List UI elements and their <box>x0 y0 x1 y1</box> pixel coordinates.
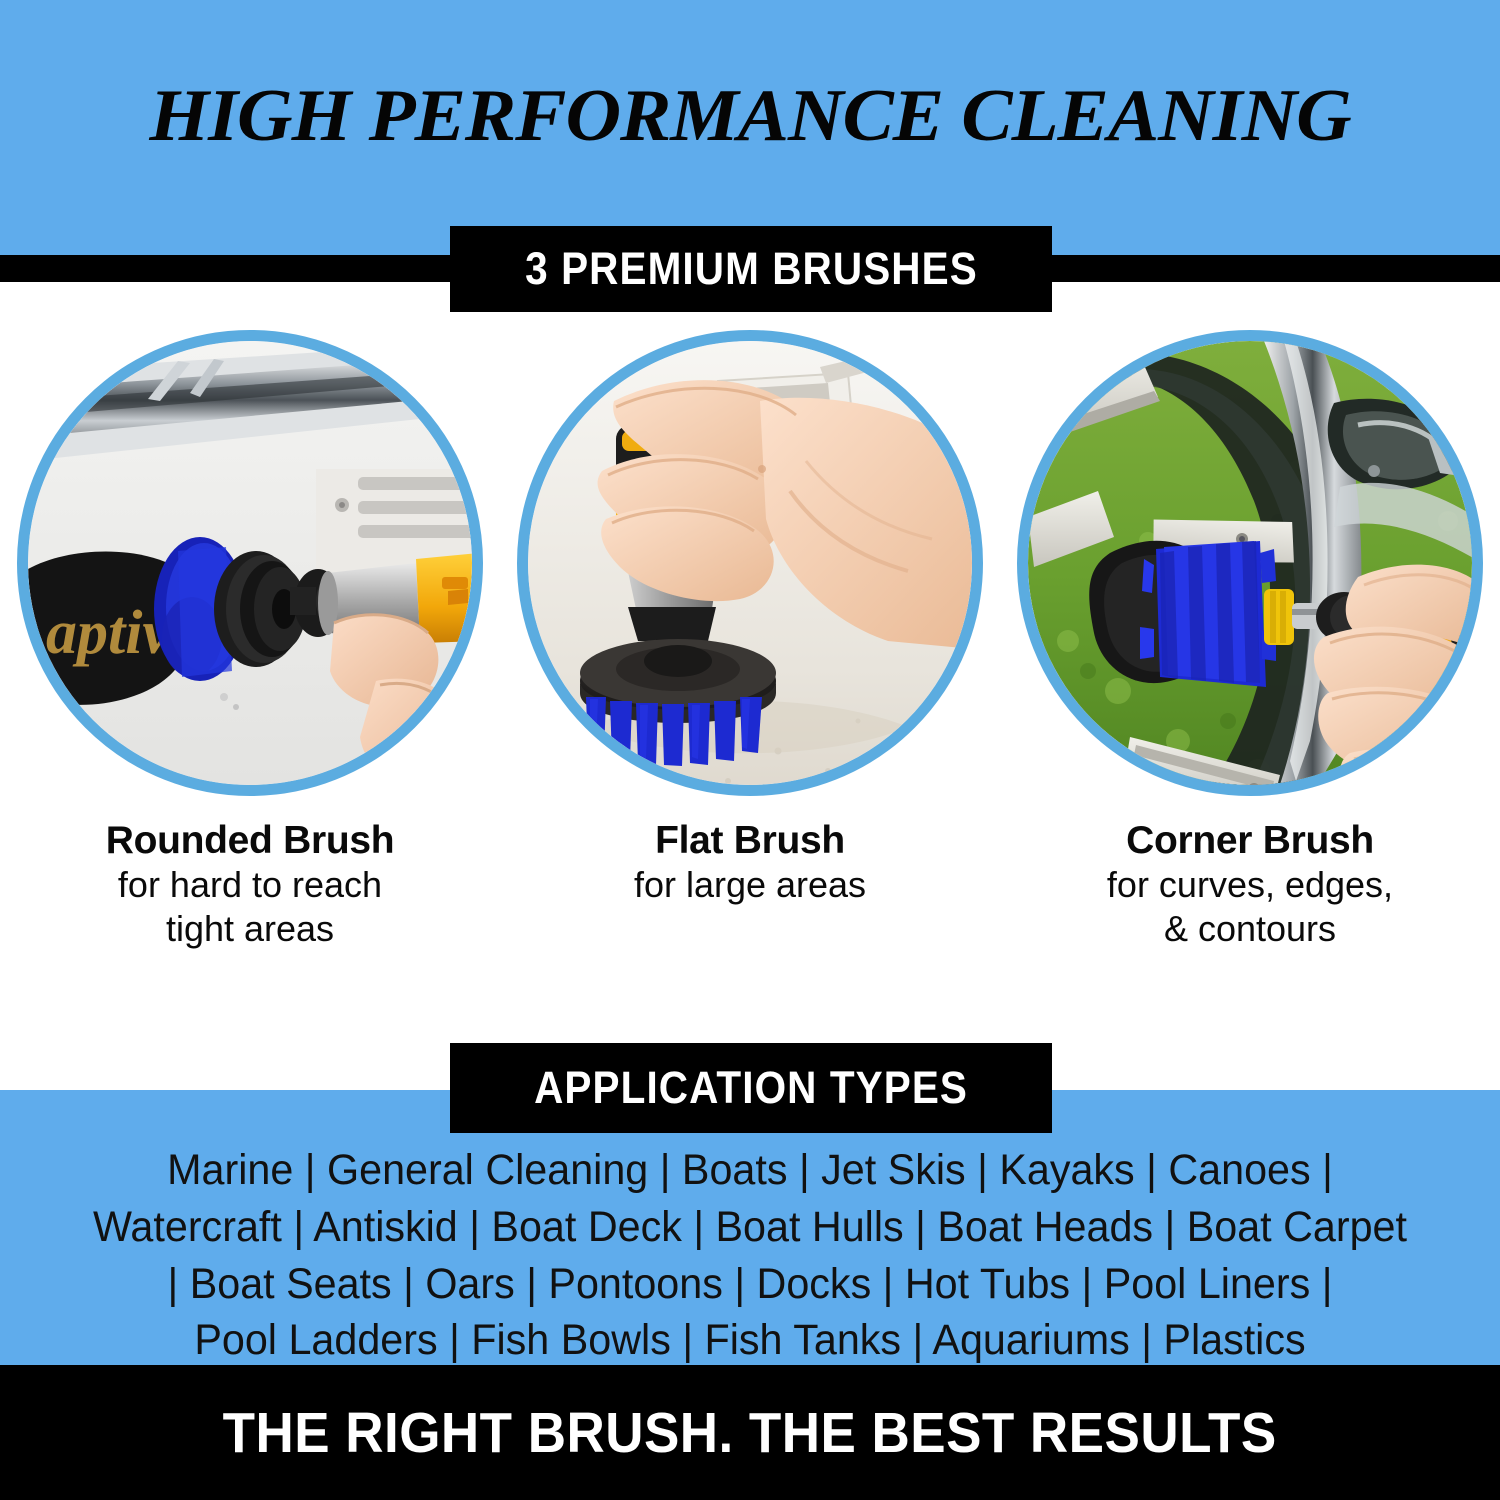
svg-text:e: e <box>1458 637 1472 667</box>
applications-line: Pool Ladders | Fish Bowls | Fish Tanks |… <box>30 1312 1470 1369</box>
applications-list: Marine | General Cleaning | Boats | Jet … <box>0 1142 1500 1369</box>
photo-inner: aptiv <box>28 341 472 785</box>
photo-inner: Cap <box>528 341 972 785</box>
applications-line: Marine | General Cleaning | Boats | Jet … <box>30 1142 1470 1199</box>
footer-tagline: THE RIGHT BRUSH. THE BEST RESULTS <box>223 1400 1277 1466</box>
product-photo-rounded-brush: aptiv <box>17 330 483 796</box>
applications-line: | Boat Seats | Oars | Pontoons | Docks |… <box>30 1256 1470 1313</box>
corner-brush-illustration: e <box>1028 341 1472 785</box>
photo-inner: e <box>1028 341 1472 785</box>
product-photo-corner-brush: e <box>1017 330 1483 796</box>
product-description-line: tight areas <box>15 908 485 950</box>
applications-badge: APPLICATION TYPES <box>450 1043 1052 1133</box>
brushes-badge-label: 3 PREMIUM BRUSHES <box>525 243 978 295</box>
applications-line: Watercraft | Antiskid | Boat Deck | Boat… <box>30 1199 1470 1256</box>
footer-band: THE RIGHT BRUSH. THE BEST RESULTS <box>0 1365 1500 1500</box>
product-description-line: for curves, edges, <box>1015 864 1485 906</box>
brushes-badge: 3 PREMIUM BRUSHES <box>450 226 1052 312</box>
applications-badge-label: APPLICATION TYPES <box>534 1062 968 1114</box>
product-name: Rounded Brush <box>15 820 485 862</box>
product-card-rounded-brush: aptiv <box>0 330 500 1030</box>
product-photo-flat-brush: Cap <box>517 330 983 796</box>
product-card-flat-brush: Cap <box>500 330 1000 1030</box>
svg-text:aptiv: aptiv <box>46 599 171 667</box>
product-grid: aptiv <box>0 330 1500 1030</box>
caption-flat-brush: Flat Brush for large areas <box>515 820 985 906</box>
product-name: Corner Brush <box>1015 820 1485 862</box>
product-description-line: for large areas <box>515 864 985 906</box>
flat-brush-illustration: Cap <box>528 341 972 785</box>
product-description-line: & contours <box>1015 908 1485 950</box>
product-description-line: for hard to reach <box>15 864 485 906</box>
page-title: HIGH PERFORMANCE CLEANING <box>0 74 1500 159</box>
product-card-corner-brush: e Corner Brush for curves <box>1000 330 1500 1030</box>
caption-rounded-brush: Rounded Brush for hard to reach tight ar… <box>15 820 485 950</box>
product-name: Flat Brush <box>515 820 985 862</box>
rounded-brush-illustration: aptiv <box>28 341 472 785</box>
caption-corner-brush: Corner Brush for curves, edges, & contou… <box>1015 820 1485 950</box>
